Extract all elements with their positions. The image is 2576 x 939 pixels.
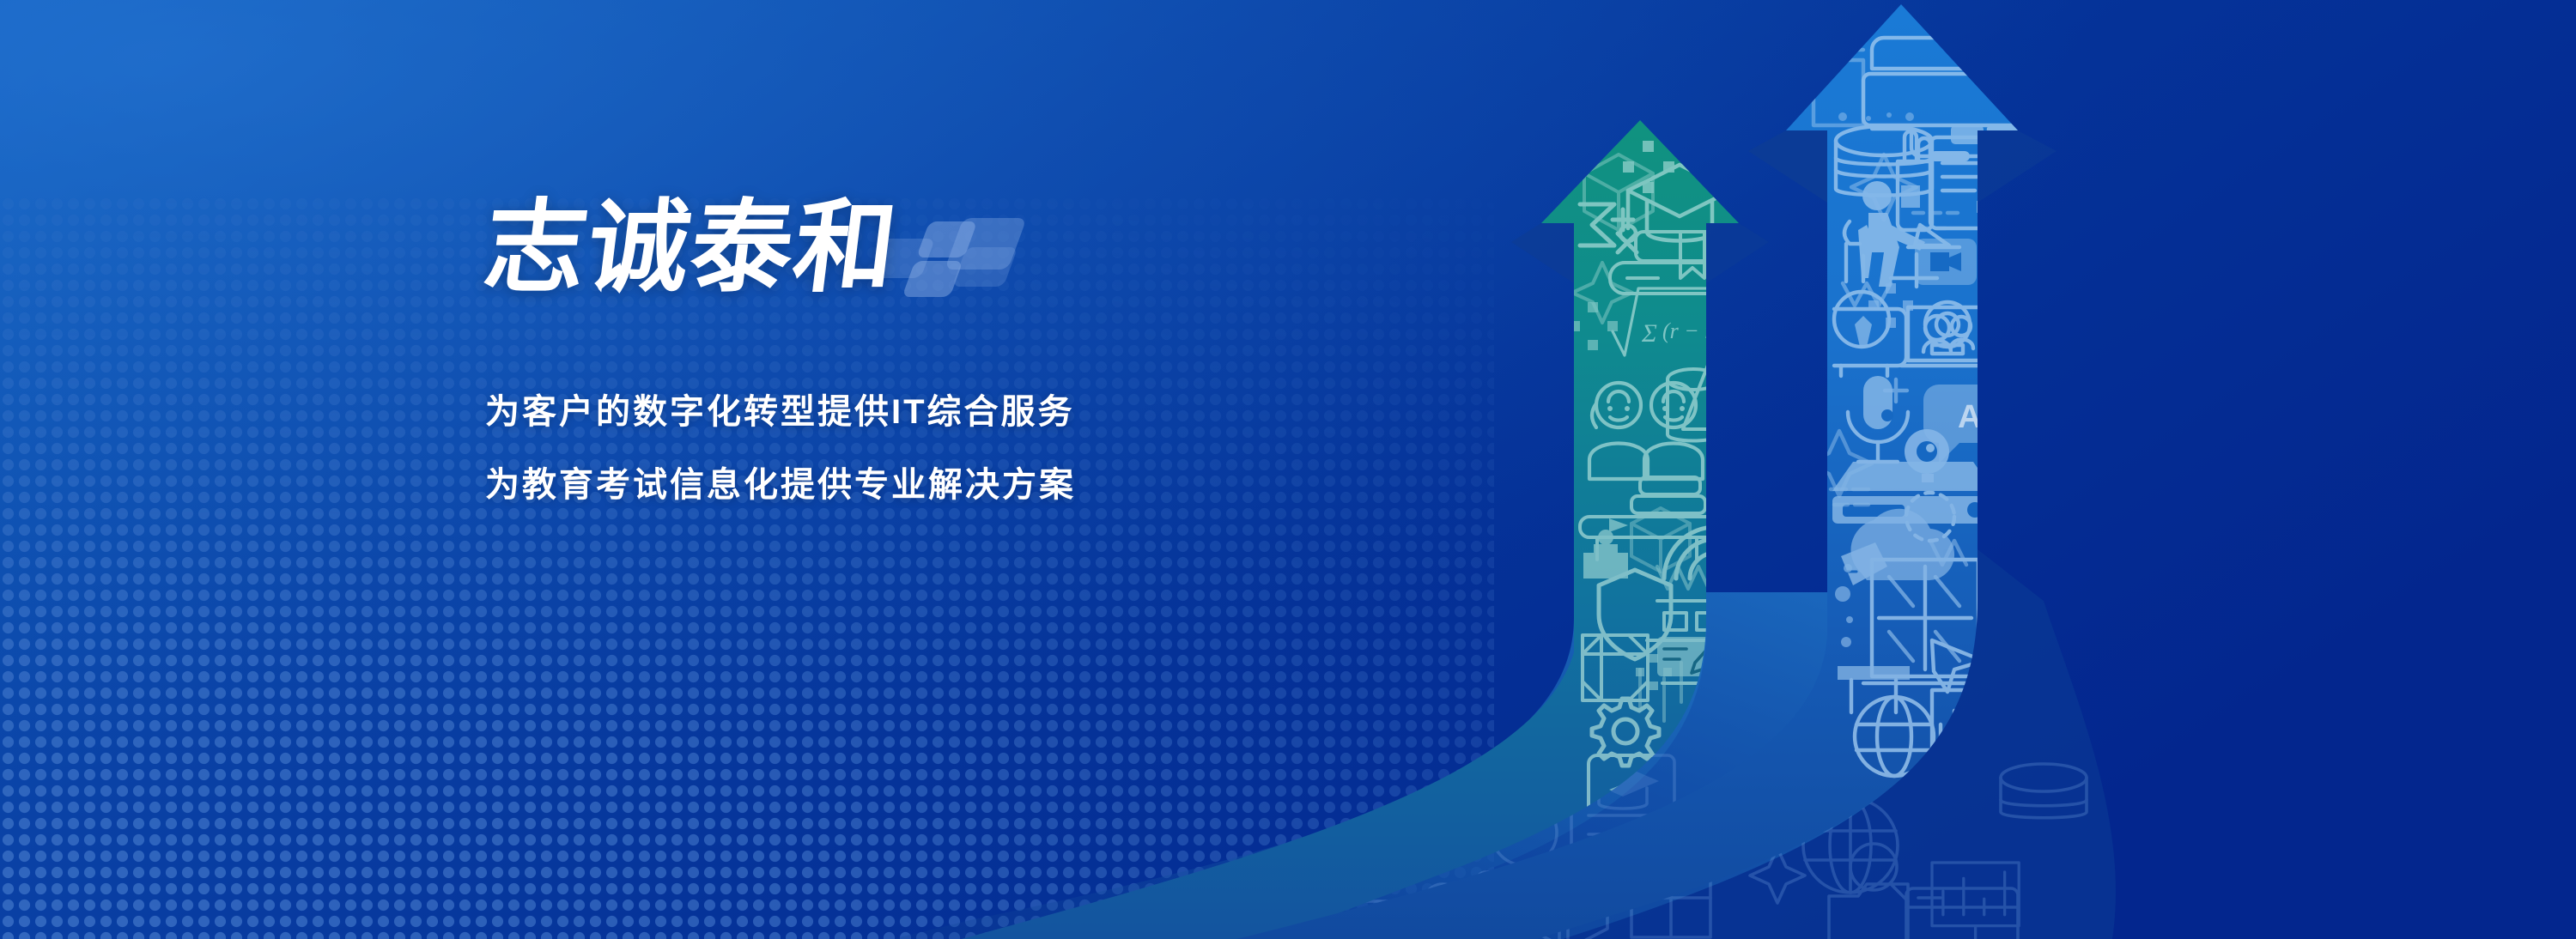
svg-text:(r − r)²/n: (r − r)²/n: [1662, 318, 1745, 343]
page-title: 志诚泰和: [479, 197, 1522, 299]
hero-copy: 志诚泰和 为客户的数字化转型提供IT综合服务 为教育考试信息化提供专业解决方案: [485, 197, 1516, 506]
svg-text:AI: AI: [1958, 399, 1990, 435]
hero-banner: Σ (r − r)²/n: [0, 0, 2576, 939]
svg-text:Σ: Σ: [1641, 319, 1657, 348]
tagline-line-2: 为教育考试信息化提供专业解决方案: [485, 457, 1516, 506]
tagline-line-1: 为客户的数字化转型提供IT综合服务: [485, 384, 1516, 433]
